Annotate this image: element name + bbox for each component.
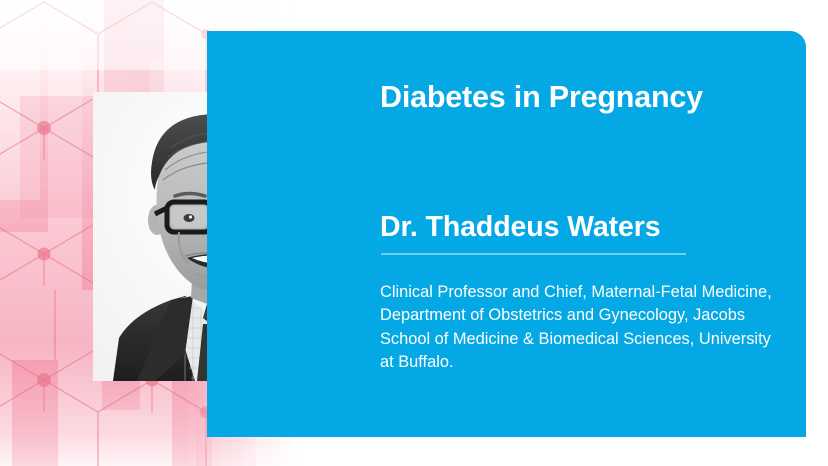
speaker-credentials: Clinical Professor and Chief, Maternal-F… [380,281,772,374]
page-title: Diabetes in Pregnancy [380,81,780,115]
speaker-info-panel: Diabetes in Pregnancy Dr. Thaddeus Water… [207,31,806,437]
speaker-name: Dr. Thaddeus Waters [380,212,780,243]
divider [381,253,686,255]
presentation-slide: Diabetes in Pregnancy Dr. Thaddeus Water… [0,0,828,466]
